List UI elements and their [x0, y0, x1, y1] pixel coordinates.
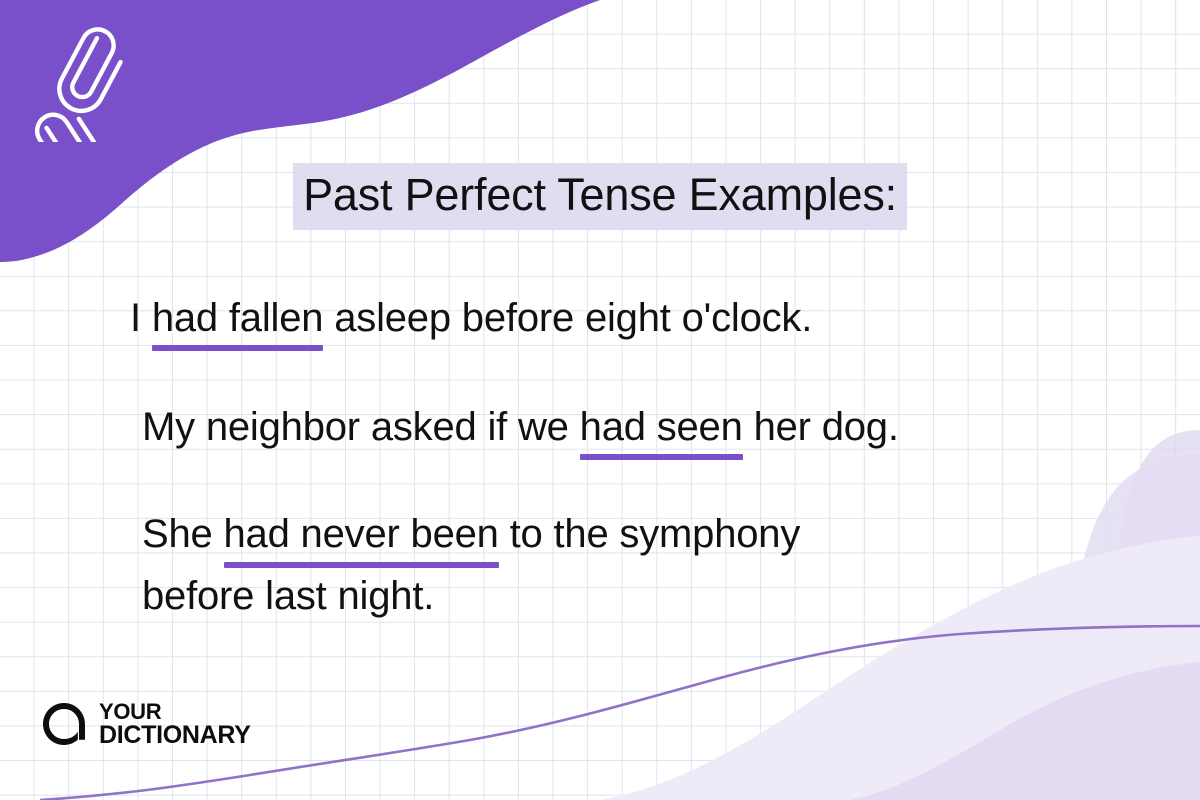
example-sentence-3: She had never been to the symphony [142, 511, 1130, 558]
example-1-before: I [130, 296, 152, 340]
example-3-before: She [142, 512, 224, 556]
logo-line-1: YOUR [99, 701, 251, 723]
example-3-highlight: had never been [224, 511, 499, 558]
logo-wordmark: YOUR DICTIONARY [99, 701, 251, 747]
yourdictionary-q-mark-icon [40, 700, 88, 748]
example-1-after: asleep before eight o'clock. [323, 296, 812, 340]
examples-list: I had fallen asleep before eight o'clock… [130, 295, 1130, 620]
example-sentence-3-line2: before last night. [142, 573, 1130, 620]
page-title-wrap: Past Perfect Tense Examples: [0, 163, 1200, 230]
yourdictionary-logo[interactable]: YOUR DICTIONARY [40, 700, 251, 748]
example-sentence-2: My neighbor asked if we had seen her dog… [142, 404, 1130, 451]
logo-line-2: DICTIONARY [99, 723, 251, 748]
example-2-highlight: had seen [580, 404, 743, 451]
example-1-highlight: had fallen [152, 295, 323, 342]
example-3-after: to the symphony [499, 512, 800, 556]
content-area: Past Perfect Tense Examples: I had falle… [0, 0, 1200, 800]
example-2-before: My neighbor asked if we [142, 405, 580, 449]
infographic-canvas: Past Perfect Tense Examples: I had falle… [0, 0, 1200, 800]
page-title: Past Perfect Tense Examples: [293, 163, 907, 230]
example-2-after: her dog. [743, 405, 899, 449]
example-sentence-1: I had fallen asleep before eight o'clock… [130, 295, 1130, 342]
